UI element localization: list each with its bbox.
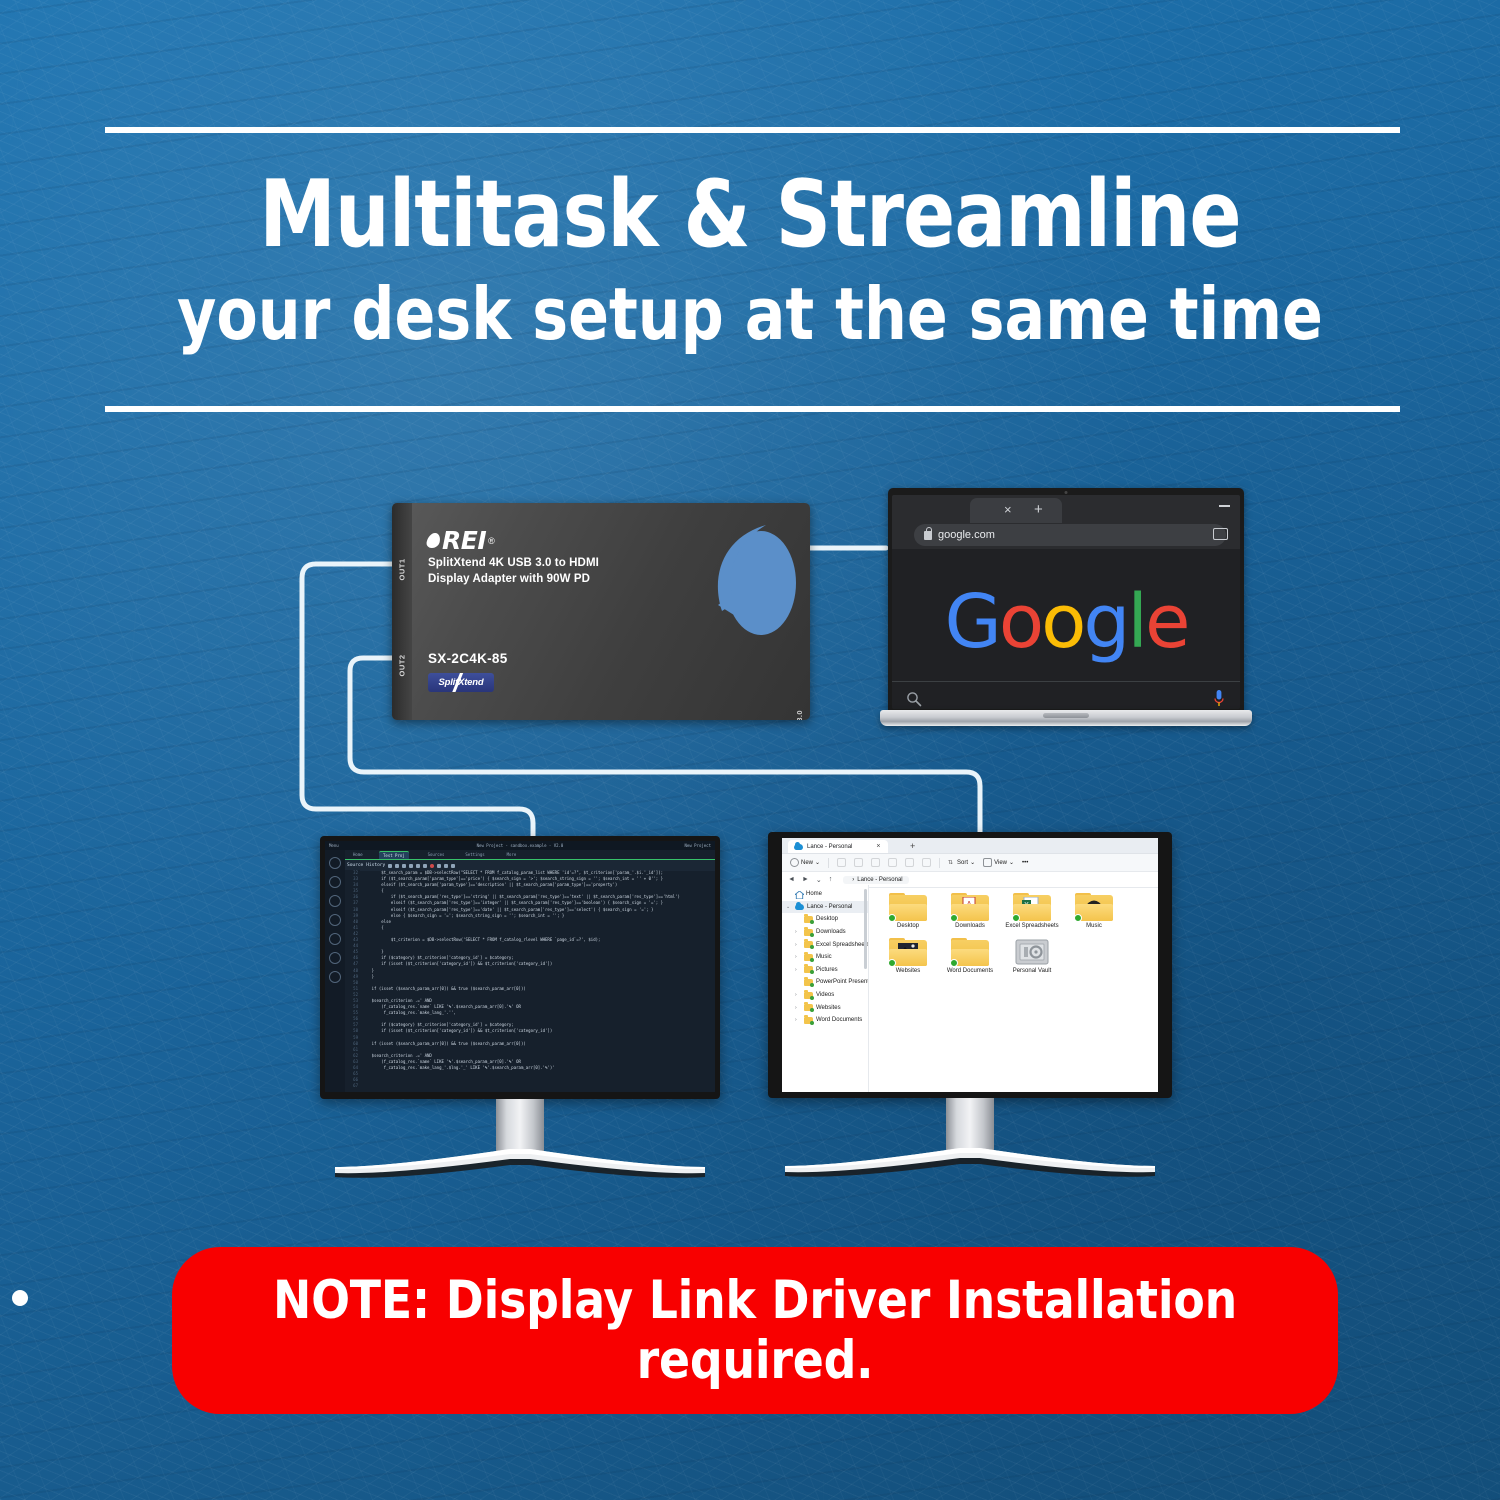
nav-item-label: Lance - Personal: [807, 904, 852, 910]
browser-tab-strip: × +: [892, 495, 1240, 523]
overflow-button[interactable]: •••: [1019, 858, 1031, 868]
explorer-tab-strip: Lance - Personal × +: [782, 838, 1158, 854]
file-item-label: Excel Spreadsheets: [1001, 923, 1063, 931]
activity-icon-explorer[interactable]: [329, 857, 341, 869]
orei-logo: REI ®: [427, 526, 495, 555]
explorer-body: Home⌄Lance - PersonalDesktop›Downloads›E…: [782, 885, 1158, 1092]
chevron-right-icon[interactable]: ›: [795, 1005, 801, 1011]
editor-titlebar: Menu New Project - sandbox.example - V2.…: [325, 841, 715, 850]
laptop-lid: × + google.com Google: [888, 488, 1244, 713]
forward-icon[interactable]: ►: [802, 876, 809, 883]
toolbar-icon-run[interactable]: [416, 864, 420, 868]
sort-button-label: Sort: [957, 860, 968, 866]
toolbar-icon-build[interactable]: [423, 864, 427, 868]
nav-item-websites[interactable]: ›Websites: [782, 1001, 868, 1014]
file-item-label: Downloads: [939, 923, 1001, 931]
share-icon: [905, 858, 914, 867]
laptop-base: [880, 710, 1252, 726]
explorer-file-grid: DesktopADownloadsXExcel SpreadsheetsMusi…: [869, 885, 1158, 1092]
chevron-right-icon[interactable]: ›: [795, 992, 801, 998]
activity-icon-settings[interactable]: [329, 895, 341, 907]
activity-icon-cursor[interactable]: [329, 952, 341, 964]
port-label-out2: OUT2: [398, 649, 407, 683]
folder-icon: [1075, 893, 1113, 921]
code-line: [362, 1083, 715, 1089]
page-title-line1: Multitask & Streamline: [60, 168, 1440, 261]
nav-scrollbar[interactable]: [864, 889, 867, 969]
nav-item-label: Home: [806, 891, 822, 897]
breadcrumb[interactable]: › Lance - Personal: [843, 876, 908, 884]
nav-item-music[interactable]: ›Music: [782, 951, 868, 964]
nav-item-label: Word Documents: [816, 1017, 862, 1023]
nav-item-label: PowerPoint Presentations: [816, 979, 869, 985]
adapter-left-edge: [392, 503, 412, 720]
adapter-model-number: SX-2C4K-85: [428, 651, 508, 666]
nav-item-home[interactable]: Home: [782, 888, 868, 901]
chevron-down-icon[interactable]: ⌄: [786, 904, 792, 910]
view-icon: [983, 858, 992, 867]
file-explorer: Lance - Personal × + New ⌄: [782, 838, 1158, 1092]
address-bar-url: google.com: [938, 529, 995, 541]
header-divider-bottom: [105, 406, 1400, 412]
orei-drop-icon: [425, 533, 441, 548]
folder-sync-icon: [804, 1017, 813, 1024]
adapter-description-line2: Display Adapter with 90W PD: [428, 572, 599, 588]
file-item-excel-spreadsheets[interactable]: XExcel Spreadsheets: [1001, 893, 1063, 931]
back-icon[interactable]: ◄: [788, 876, 795, 883]
nav-item-label: Websites: [816, 1005, 841, 1011]
nav-item-videos[interactable]: ›Videos: [782, 989, 868, 1002]
file-item-label: Personal Vault: [1001, 968, 1063, 976]
rename-button[interactable]: [885, 856, 900, 869]
delete-icon: [922, 858, 931, 867]
note-banner-text: NOTE: Display Link Driver Installation r…: [195, 1271, 1314, 1390]
onedrive-icon: [794, 844, 803, 850]
cast-icon[interactable]: [1213, 528, 1228, 540]
folder-icon: A: [951, 893, 989, 921]
adapter-description-line1: SplitXtend 4K USB 3.0 to HDMI: [428, 556, 599, 572]
explorer-tab[interactable]: Lance - Personal ×: [788, 840, 888, 853]
editor-activity-bar: [325, 850, 345, 1092]
file-item-label: Word Documents: [939, 968, 1001, 976]
chevron-down-icon-view: ⌄: [1009, 859, 1014, 866]
nav-item-label: Downloads: [816, 929, 846, 935]
file-item-desktop[interactable]: Desktop: [877, 893, 939, 931]
paste-icon: [871, 858, 880, 867]
monitor-right-base: [780, 1140, 1160, 1185]
nav-item-label: Desktop: [816, 916, 838, 922]
breadcrumb-path: Lance - Personal: [857, 877, 902, 883]
address-bar[interactable]: google.com: [914, 524, 1226, 546]
chevron-down-icon: ⌄: [815, 859, 820, 866]
line-number: 67: [345, 1083, 358, 1089]
laptop-screen: × + google.com Google: [892, 495, 1240, 709]
browser-viewport: Google: [892, 549, 1240, 709]
activity-icon-warnings[interactable]: [329, 876, 341, 888]
adapter-description: SplitXtend 4K USB 3.0 to HDMI Display Ad…: [428, 556, 599, 587]
nav-item-word-documents[interactable]: ›Word Documents: [782, 1014, 868, 1027]
nav-item-label: Pictures: [816, 967, 838, 973]
chevron-down-icon-sort: ⌄: [970, 859, 975, 866]
splitxtend-adapter: OUT1 OUT2 REI ® SplitXtend 4K USB 3.0 to…: [392, 503, 810, 720]
nav-item-desktop[interactable]: Desktop: [782, 913, 868, 926]
editor-tab-strip: HomeTest ProjSourcesSettingsMore: [325, 850, 715, 859]
chevron-right-icon[interactable]: ›: [795, 954, 801, 960]
orei-brand-text: REI: [442, 526, 486, 555]
page-title-line2: your desk setup at the same time: [53, 278, 1448, 350]
folder-icon: X: [1013, 893, 1051, 921]
monitor-left: Menu New Project - sandbox.example - V2.…: [320, 836, 720, 1186]
new-tab-icon[interactable]: +: [910, 842, 915, 851]
up-icon[interactable]: ↑: [829, 876, 833, 883]
view-button[interactable]: View ⌄: [980, 856, 1017, 869]
folder-sync-icon: [804, 966, 813, 973]
new-button-label: New: [801, 860, 813, 866]
folder-sync-icon: [804, 929, 813, 936]
sync-status-icon: [1074, 914, 1082, 922]
plus-circle-icon: [790, 858, 799, 867]
nav-item-downloads[interactable]: ›Downloads: [782, 926, 868, 939]
overflow-label: •••: [1022, 860, 1028, 866]
copy-icon: [854, 858, 863, 867]
file-item-websites[interactable]: Websites: [877, 938, 939, 976]
orei-o-emblem-icon: [704, 515, 804, 650]
sort-icon: ⇅: [948, 859, 955, 866]
laptop: × + google.com Google: [880, 488, 1252, 738]
activity-icon-history[interactable]: [329, 933, 341, 945]
bullet-point: [12, 1290, 28, 1306]
monitor-left-base: [330, 1141, 710, 1186]
toolbar-icon-step[interactable]: [444, 864, 448, 868]
new-tab-icon[interactable]: +: [1034, 502, 1043, 517]
folder-sync-icon: [804, 979, 813, 986]
toolbar-icon-record[interactable]: [430, 864, 434, 868]
editor-code-area[interactable]: $t_search_param = $DB->selectRow("SELECT…: [358, 870, 715, 1092]
personal-vault-icon: [1013, 938, 1051, 966]
delete-button[interactable]: [919, 856, 934, 869]
folder-sync-icon: [804, 954, 813, 961]
tab-close-icon[interactable]: ×: [876, 843, 880, 850]
lock-icon: [924, 531, 932, 540]
nav-item-label: Videos: [816, 992, 834, 998]
code-editor: Menu New Project - sandbox.example - V2.…: [325, 841, 715, 1092]
file-item-label: Music: [1063, 923, 1125, 931]
sync-status-icon: [950, 959, 958, 967]
folder-sync-icon: [804, 1004, 813, 1011]
toolbar-separator: [828, 858, 829, 868]
toolbar-icon-stop[interactable]: [409, 864, 413, 868]
toolbar-icon-save[interactable]: [402, 864, 406, 868]
search-divider: [892, 681, 1240, 682]
splitxtend-logo: SplitXtend: [428, 673, 494, 692]
folder-sync-icon: [804, 916, 813, 923]
monitor-right: Lance - Personal × + New ⌄: [768, 832, 1172, 1187]
browser-omnibox-row: google.com: [892, 523, 1240, 549]
splitxtend-logo-text: SplitXtend: [439, 677, 484, 688]
google-logo-letter-4: l: [1127, 579, 1145, 665]
chevron-right-icon[interactable]: ›: [795, 942, 801, 948]
tab-close-icon[interactable]: ×: [1004, 503, 1012, 516]
rename-icon: [888, 858, 897, 867]
registered-mark: ®: [488, 536, 495, 546]
nav-item-excel-spreadsheets[interactable]: ›Excel Spreadsheets: [782, 938, 868, 951]
monitor-right-screen: Lance - Personal × + New ⌄: [782, 838, 1158, 1092]
monitor-left-screen: Menu New Project - sandbox.example - V2.…: [325, 841, 715, 1092]
folder-sync-icon: [804, 992, 813, 999]
new-button[interactable]: New ⌄: [787, 856, 823, 869]
google-logo-letter-1: o: [999, 579, 1041, 665]
browser-tab[interactable]: [970, 498, 1062, 523]
chevron-right-icon[interactable]: ›: [795, 1017, 801, 1023]
folder-icon: [951, 938, 989, 966]
sync-status-icon: [950, 914, 958, 922]
onedrive-icon: [795, 904, 804, 910]
nav-item-powerpoint-presentations[interactable]: PowerPoint Presentations: [782, 976, 868, 989]
editor-project-label: New Project: [685, 843, 712, 848]
note-banner: NOTE: Display Link Driver Installation r…: [172, 1247, 1338, 1414]
toolbar-icon-more[interactable]: [451, 864, 455, 868]
google-logo: Google: [892, 585, 1240, 659]
sync-status-icon: [888, 914, 896, 922]
laptop-base-notch: [1043, 713, 1089, 718]
toolbar-icon-undo[interactable]: [388, 864, 392, 868]
google-logo-letter-2: o: [1041, 579, 1083, 665]
editor-history-tab[interactable]: History: [366, 863, 385, 868]
chevron-right-icon[interactable]: ›: [795, 967, 801, 973]
folder-icon: [889, 893, 927, 921]
adapter-pd-label: PD3.0: [795, 710, 804, 720]
folder-icon: [889, 938, 927, 966]
explorer-toolbar: New ⌄ ⇅ Sort ⌄ View ⌄: [782, 854, 1158, 872]
recent-locations-icon[interactable]: ⌄: [816, 876, 822, 884]
chevron-right-icon[interactable]: ›: [795, 929, 801, 935]
sync-status-icon: [1012, 914, 1020, 922]
paste-button[interactable]: [868, 856, 883, 869]
microphone-icon[interactable]: [1214, 689, 1224, 709]
sync-status-icon: [888, 959, 896, 967]
nav-item-label: Excel Spreadsheets: [816, 942, 869, 948]
toolbar-icon-debug[interactable]: [437, 864, 441, 868]
webcam-icon: [1065, 491, 1068, 494]
editor-title: New Project - sandbox.example - V2.0: [477, 843, 564, 848]
home-icon: [795, 891, 803, 898]
toolbar-separator-2: [939, 858, 940, 868]
activity-icon-plugins[interactable]: [329, 971, 341, 983]
copy-button[interactable]: [851, 856, 866, 869]
port-label-out1: OUT1: [398, 553, 407, 587]
explorer-nav-pane: Home⌄Lance - PersonalDesktop›Downloads›E…: [782, 885, 869, 1092]
editor-source-tab[interactable]: Source: [347, 863, 363, 868]
cut-button[interactable]: [834, 856, 849, 869]
editor-menu-label[interactable]: Menu: [329, 843, 339, 848]
folder-sync-icon: [804, 941, 813, 948]
toolbar-icon-redo[interactable]: [395, 864, 399, 868]
nav-item-label: Music: [816, 954, 832, 960]
minimize-icon[interactable]: [1219, 505, 1230, 507]
search-icon[interactable]: [906, 691, 922, 707]
breadcrumb-separator: ›: [852, 877, 854, 883]
cut-icon: [837, 858, 846, 867]
nav-item-pictures[interactable]: ›Pictures: [782, 964, 868, 977]
file-item-word-documents[interactable]: Word Documents: [939, 938, 1001, 976]
file-item-label: Websites: [877, 968, 939, 976]
file-item-label: Desktop: [877, 923, 939, 931]
nav-item-lance-personal[interactable]: ⌄Lance - Personal: [782, 901, 868, 914]
file-item-downloads[interactable]: ADownloads: [939, 893, 1001, 931]
file-item-music[interactable]: Music: [1063, 893, 1125, 931]
share-button[interactable]: [902, 856, 917, 869]
google-logo-letter-3: g: [1083, 579, 1127, 665]
file-item-personal-vault[interactable]: Personal Vault: [1001, 938, 1063, 976]
activity-icon-database[interactable]: [329, 914, 341, 926]
google-logo-letter-0: G: [945, 579, 999, 665]
google-logo-letter-5: e: [1145, 579, 1188, 665]
header-divider-top: [105, 127, 1400, 133]
view-button-label: View: [994, 860, 1007, 866]
code-line: elseif ($t_search_param['res_type']=='in…: [362, 900, 715, 906]
explorer-tab-title: Lance - Personal: [807, 844, 852, 850]
sort-button[interactable]: ⇅ Sort ⌄: [945, 857, 978, 868]
